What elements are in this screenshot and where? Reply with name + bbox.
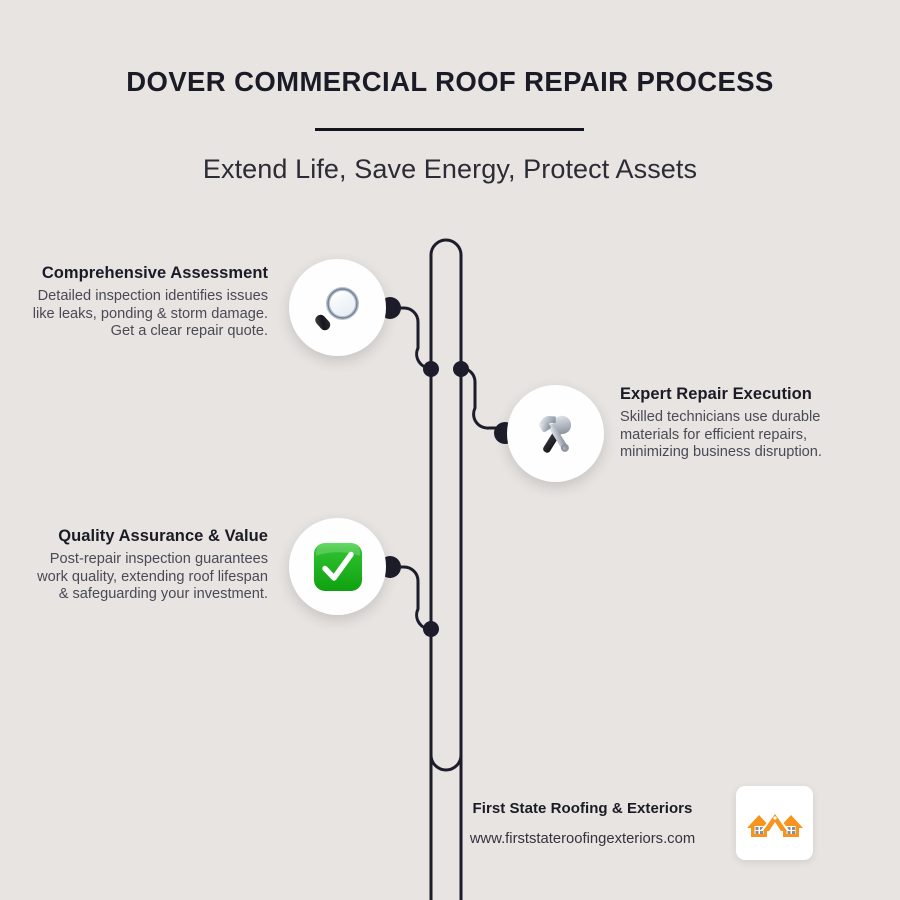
step-title-2: Expert Repair Execution — [620, 385, 852, 403]
step-block-2: Expert Repair Execution Skilled technici… — [620, 385, 852, 462]
step-title-1: Comprehensive Assessment — [28, 264, 268, 282]
company-logo — [736, 786, 813, 860]
hammer-and-wrench-icon — [529, 407, 583, 461]
step-icon-circle-3[interactable] — [289, 518, 386, 615]
step-icon-circle-2[interactable] — [507, 385, 604, 482]
step-block-1: Comprehensive Assessment Detailed inspec… — [28, 264, 268, 341]
footer-website-url[interactable]: www.firststateroofingexteriors.com — [425, 831, 740, 847]
page-subtitle: Extend Life, Save Energy, Protect Assets — [0, 154, 900, 185]
step-description-2: Skilled technicians use durable material… — [620, 409, 852, 462]
footer-brand-name: First State Roofing & Exteriors — [445, 800, 720, 817]
rail-node-left-lower — [423, 621, 439, 637]
rail-node-left-upper — [423, 361, 439, 377]
green-check-mark-icon — [312, 541, 364, 593]
infographic-canvas: DOVER COMMERCIAL ROOF REPAIR PROCESS Ext… — [0, 0, 900, 900]
roof-houses-logo-icon — [745, 806, 805, 840]
step-icon-circle-1[interactable] — [289, 259, 386, 356]
step-description-1: Detailed inspection identifies issues li… — [28, 288, 268, 341]
step-title-3: Quality Assurance & Value — [28, 527, 268, 545]
step-block-3: Quality Assurance & Value Post-repair in… — [28, 527, 268, 604]
page-title: DOVER COMMERCIAL ROOF REPAIR PROCESS — [0, 66, 900, 98]
step-description-3: Post-repair inspection guarantees work q… — [28, 551, 268, 604]
rail-node-right-upper — [453, 361, 469, 377]
title-divider — [315, 128, 584, 131]
magnifying-glass-icon — [311, 281, 365, 335]
